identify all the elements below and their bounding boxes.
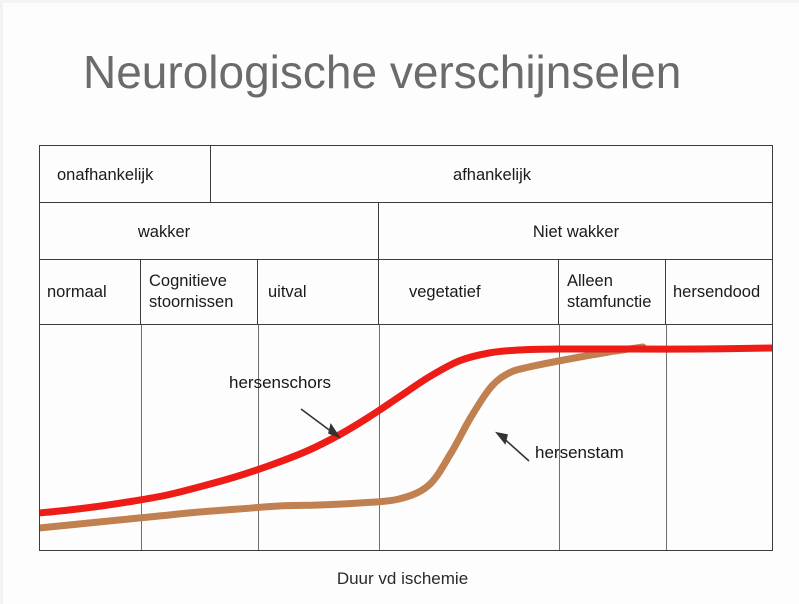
table-cell-uitval: uitval bbox=[258, 260, 379, 325]
page-title: Neurologische verschijnselen bbox=[83, 45, 681, 99]
table-cell-label: uitval bbox=[268, 282, 307, 303]
table-cell-label: Alleen stamfunctie bbox=[567, 271, 651, 313]
table-cell-label: normaal bbox=[47, 282, 107, 303]
table-cell-label: vegetatief bbox=[409, 282, 481, 303]
table-cell-wakker: wakker bbox=[39, 203, 379, 260]
neurological-states-table: onafhankelijk afhankelijk wakker Niet wa… bbox=[39, 145, 773, 551]
table-cell-label: wakker bbox=[39, 222, 289, 243]
table-cell-normaal: normaal bbox=[39, 260, 141, 325]
annotation-arrows bbox=[301, 409, 529, 461]
table-cell-label: Niet wakker bbox=[379, 222, 773, 243]
table-cell-alleen-stamfunctie: Alleen stamfunctie bbox=[559, 260, 666, 325]
hersenschors-annotation-label: hersenschors bbox=[229, 373, 331, 393]
table-cell-afhankelijk: afhankelijk bbox=[211, 145, 773, 203]
slide-canvas: Neurologische verschijnselen onafhankeli… bbox=[0, 0, 799, 604]
table-cell-hersendood: hersendood bbox=[666, 260, 773, 325]
table-cell-label: Cognitieve stoornissen bbox=[149, 271, 233, 313]
x-axis-caption: Duur vd ischemie bbox=[3, 569, 799, 589]
hersenschors-arrow-icon bbox=[301, 409, 339, 437]
chart-svg bbox=[39, 325, 773, 551]
table-cell-cognitieve-stoornissen: Cognitieve stoornissen bbox=[141, 260, 258, 325]
table-cell-label: afhankelijk bbox=[211, 165, 773, 186]
hersenstam-annotation-label: hersenstam bbox=[535, 443, 624, 463]
table-cell-niet-wakker: Niet wakker bbox=[379, 203, 773, 260]
table-cell-label: hersendood bbox=[673, 282, 760, 303]
table-cell-label: onafhankelijk bbox=[57, 165, 153, 186]
table-cell-vegetatief: vegetatief bbox=[379, 260, 559, 325]
hersenstam-arrow-icon bbox=[497, 433, 529, 461]
series-hersenschors bbox=[39, 348, 773, 513]
table-cell-onafhankelijk: onafhankelijk bbox=[39, 145, 211, 203]
ischemia-chart: hersenschors hersenstam bbox=[39, 325, 773, 551]
